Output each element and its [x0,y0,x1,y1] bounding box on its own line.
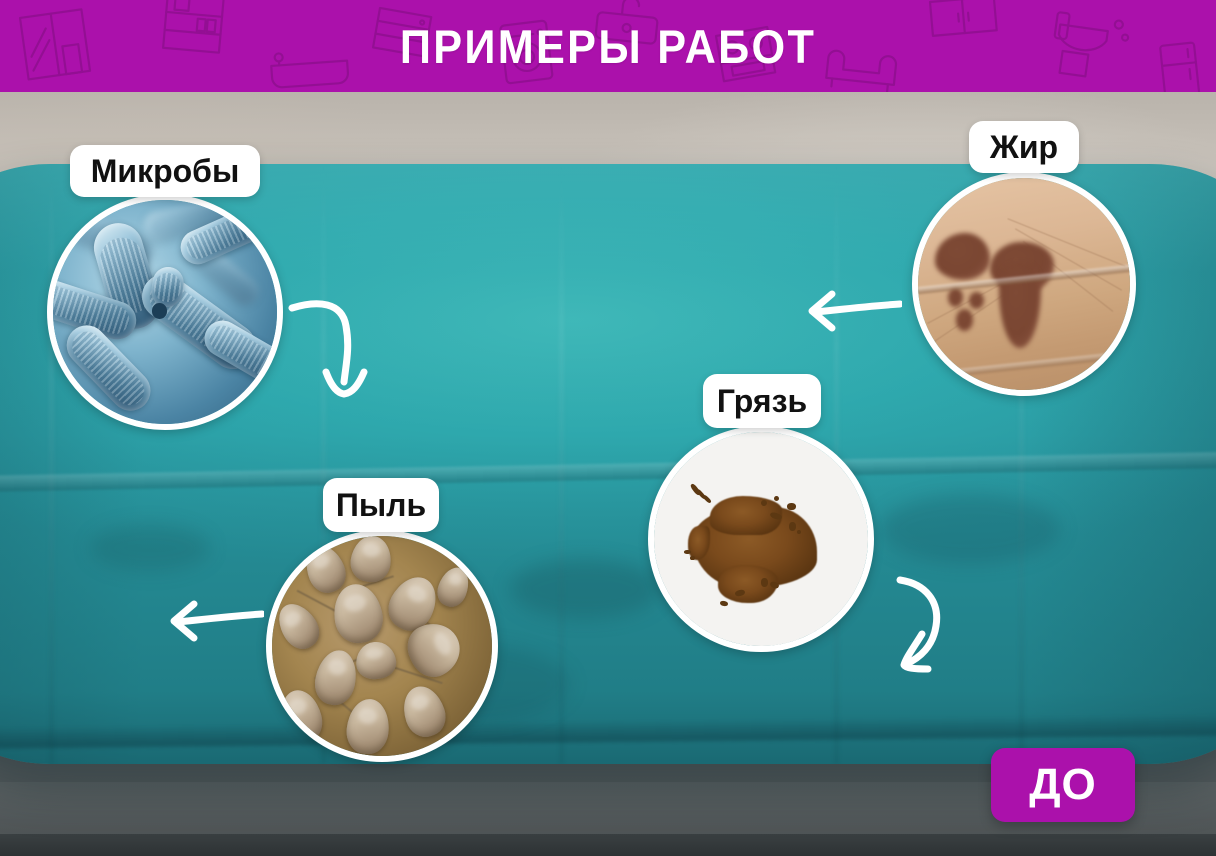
bottom-shadow [0,834,1216,856]
curved-down-left-arrow-icon [878,576,962,676]
label-dust-text: Пыль [336,487,426,524]
curved-down-arrow-icon [288,294,374,402]
label-microbes-text: Микробы [91,153,240,190]
label-dust: Пыль [323,478,439,532]
label-dirt-text: Грязь [717,383,807,420]
status-badge-text: ДО [1029,760,1097,810]
mattress-stain [510,559,660,619]
page-title: ПРИМЕРЫ РАБОТ [49,0,1168,92]
callout-circle-microbes [47,194,283,430]
label-grease: Жир [969,121,1079,173]
dirt-splatter-photo [654,432,868,646]
callout-circle-dirt [648,426,874,652]
straight-left-arrow-icon [798,288,902,334]
label-grease-text: Жир [990,129,1058,166]
header-banner: ПРИМЕРЫ РАБОТ [0,0,1216,92]
bacteria-microscopy-image [53,200,277,424]
label-dirt: Грязь [703,374,821,428]
grease-stain-photo [918,178,1130,390]
status-badge-before: ДО [991,748,1135,822]
straight-left-arrow-icon [160,598,264,644]
infographic-canvas: ПРИМЕРЫ РАБОТ Микробы [0,0,1216,856]
mattress-stain [90,524,210,572]
callout-circle-dust [266,530,498,762]
callout-circle-grease [912,172,1136,396]
dust-mites-microscopy-image [272,536,492,756]
label-microbes: Микробы [70,145,260,197]
mattress-stain [880,494,1060,564]
